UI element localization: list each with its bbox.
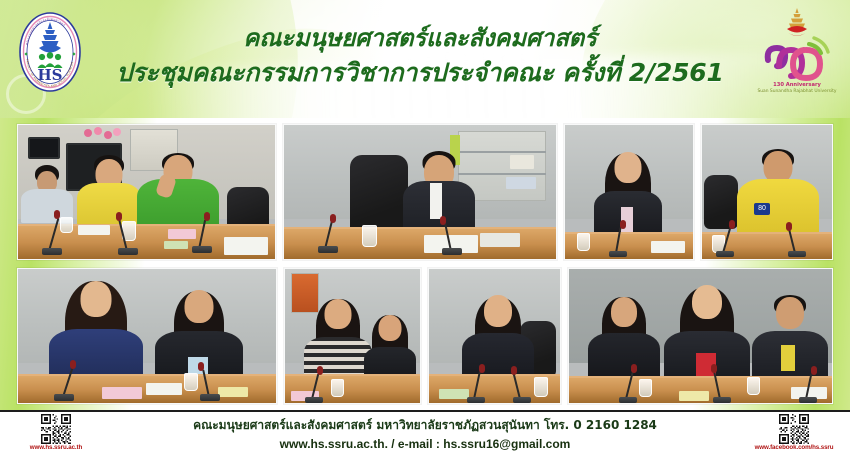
banner-title-line-1: คณะมนุษยศาสตร์และสังคมศาสตร์ [95,22,745,54]
qr-code-facebook-block[interactable]: www.facebook.com/hs.ssru [746,414,842,453]
photo-gallery-area: 80 [0,118,850,410]
photo-meeting-two-men-yellow-green-shirts[interactable] [17,124,276,260]
photo-woman-dark-suit-speaking[interactable] [428,268,561,404]
banner-title-line-2: ประชุมคณะกรรมการวิชาการประจำคณะ ครั้งที่… [95,56,745,90]
header-title-block: คณะมนุษยศาสตร์และสังคมศาสตร์ ประชุมคณะกร… [95,22,745,90]
photo-grid: 80 [17,124,833,404]
photo-woman-black-blazer[interactable] [564,124,694,260]
qr-code-website[interactable] [41,414,71,444]
qr-code-website-caption: www.hs.ssru.ac.th [8,444,104,452]
photo-chairman-at-desk[interactable] [283,124,557,260]
qr-code-website-block[interactable]: www.hs.ssru.ac.th [8,414,104,453]
svg-text:130 Anniversary: 130 Anniversary [773,82,821,88]
svg-text:Suan Sunandha Rajabhat Univers: Suan Sunandha Rajabhat University [757,88,836,94]
banner-footer: www.hs.ssru.ac.th คณะมนุษยศาสตร์และสังคม… [0,410,850,453]
photo-row-top: 80 [17,124,833,260]
photo-two-women-committee-members[interactable] [17,268,277,404]
qr-code-facebook[interactable] [779,414,809,444]
banner-header: HS คณะมนุษยศาสตร์และสังคมศาสตร์ FACULTY … [0,0,850,122]
qr-code-facebook-caption: www.facebook.com/hs.ssru [746,444,842,452]
photo-two-women-striped-top[interactable] [284,268,421,404]
news-banner: HS คณะมนุษยศาสตร์และสังคมศาสตร์ FACULTY … [0,0,850,453]
footer-contact-block: คณะมนุษยศาสตร์และสังคมศาสตร์ มหาวิทยาลัย… [110,416,740,453]
photo-three-members-right-side[interactable] [568,268,833,404]
photo-row-bottom [17,268,833,404]
photo-man-yellow-shirt-number-80[interactable]: 80 [701,124,833,260]
ssru-hs-crest-logo: HS คณะมนุษยศาสตร์และสังคมศาสตร์ FACULTY … [17,10,83,94]
footer-contact-thai: คณะมนุษยศาสตร์และสังคมศาสตร์ มหาวิทยาลัย… [110,416,740,435]
ssru-130th-anniversary-logo: 130 Anniversary Suan Sunandha Rajabhat U… [754,4,840,96]
footer-contact-web-email: www.hs.ssru.ac.th. / e-mail : hs.ssru16@… [110,435,740,453]
